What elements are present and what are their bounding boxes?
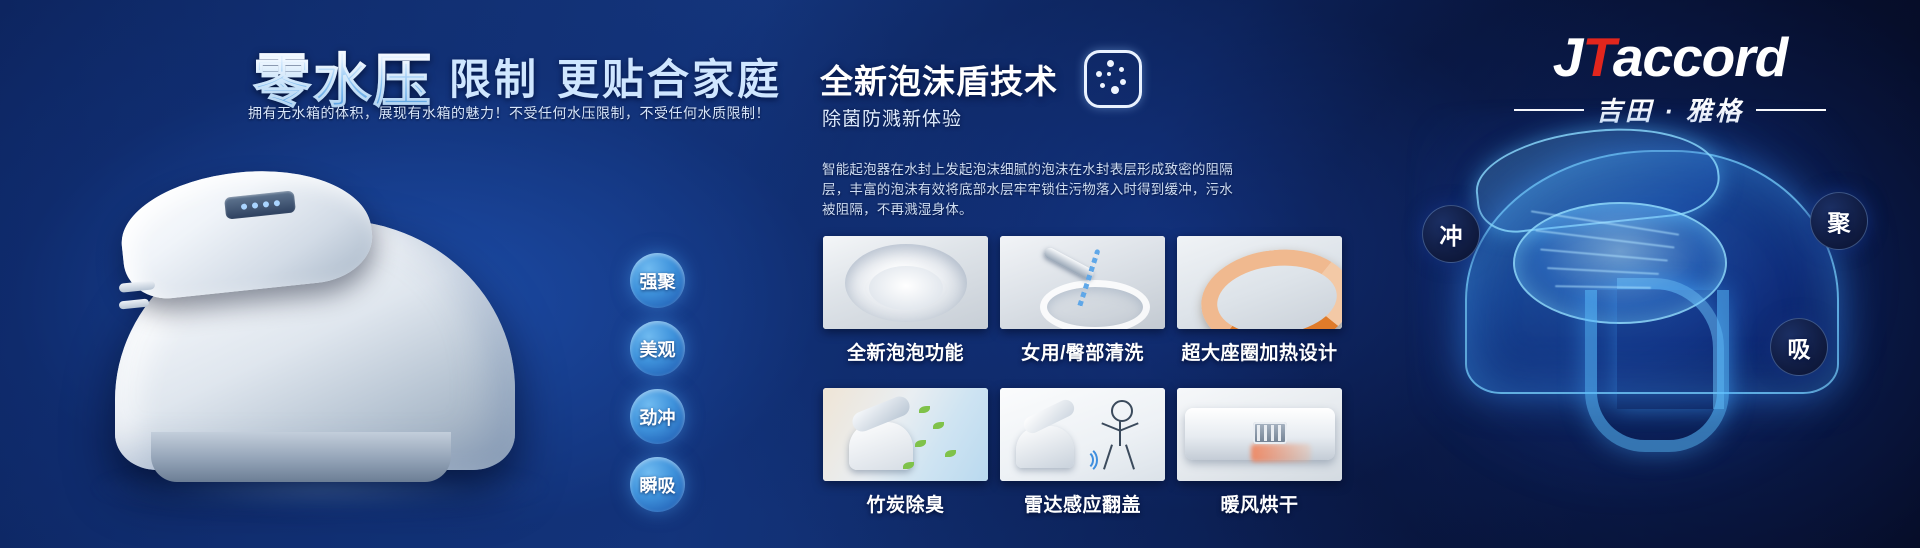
- feature-card-4[interactable]: 雷达感应翻盖: [1000, 388, 1165, 532]
- feature-pill-1[interactable]: 美观: [630, 321, 685, 376]
- feature-caption: 女用/臀部清洗: [1000, 338, 1165, 365]
- badge-suction[interactable]: 吸: [1770, 318, 1828, 376]
- feature-card-1[interactable]: 女用/臀部清洗: [1000, 236, 1165, 380]
- feature-caption: 全新泡泡功能: [823, 338, 988, 365]
- badge-flush[interactable]: 冲: [1422, 205, 1480, 263]
- feature-pill-list: 强聚 美观 劲冲 瞬吸: [630, 253, 685, 525]
- foam-bubbles-icon: [1084, 50, 1142, 108]
- middle-heading-row: 全新泡沫盾技术: [820, 50, 1142, 108]
- feature-thumbnail-radar: [1000, 388, 1165, 481]
- feature-grid-row-2: 竹炭除臭 雷达感应翻盖: [823, 388, 1343, 532]
- toilet-base: [151, 432, 451, 482]
- headline-sub-text: 限制更贴合家庭: [449, 46, 782, 107]
- feature-thumbnail-bowl: [823, 236, 988, 329]
- middle-title: 全新泡沫盾技术: [820, 55, 1058, 103]
- badge-label: 冲: [1440, 217, 1463, 251]
- feature-card-3[interactable]: 竹炭除臭: [823, 388, 988, 532]
- logo-letter-j: J: [1553, 26, 1583, 88]
- feature-thumbnail-bamboo: [823, 388, 988, 481]
- headline-subline: 拥有无水箱的体积，展现有水箱的魅力！不受任何水压限制，不受任何水质限制！: [248, 103, 770, 123]
- toilet-product-image: [105, 160, 565, 505]
- feature-thumbnail-wash: [1000, 236, 1165, 329]
- middle-body-text: 智能起泡器在水封上发起泡沫细腻的泡沫在水封表层形成致密的阻隔层，丰富的泡沫有效将…: [822, 160, 1242, 220]
- brand-logo-latin: JTaccord: [1470, 30, 1870, 85]
- headline-sub-a: 限制: [449, 56, 539, 103]
- feature-caption: 竹炭除臭: [823, 490, 988, 517]
- headline-sub-b: 更贴合家庭: [557, 56, 782, 103]
- feature-pill-label: 劲冲: [640, 404, 676, 430]
- logo-word-accord: accord: [1613, 26, 1787, 88]
- xray-trapway-lower: [1585, 290, 1729, 452]
- feature-card-2[interactable]: 超大座圈加热设计: [1177, 236, 1342, 380]
- left-section: 零水压限制更贴合家庭 拥有无水箱的体积，展现有水箱的魅力！不受任何水压限制，不受…: [0, 0, 760, 548]
- feature-thumbnail-seat: [1177, 236, 1342, 329]
- right-section: JTaccord 吉田 · 雅格 冲 聚 吸: [1380, 0, 1920, 548]
- feature-pill-label: 瞬吸: [640, 472, 676, 498]
- feature-caption: 雷达感应翻盖: [1000, 490, 1165, 517]
- logo-letter-t: T: [1582, 26, 1613, 88]
- feature-caption: 超大座圈加热设计: [1177, 338, 1342, 365]
- feature-caption: 暖风烘干: [1177, 490, 1342, 517]
- feature-grid: 全新泡泡功能 女用/臀部清洗 超大座圈加热设计: [823, 236, 1343, 540]
- badge-gather[interactable]: 聚: [1810, 192, 1868, 250]
- feature-thumbnail-dryer: [1177, 388, 1342, 481]
- middle-subtitle: 除菌防溅新体验: [822, 104, 962, 131]
- feature-card-0[interactable]: 全新泡泡功能: [823, 236, 988, 380]
- feature-pill-label: 美观: [640, 336, 676, 362]
- xray-cutaway-image: [1435, 110, 1875, 510]
- middle-section: 全新泡沫盾技术 除菌防溅新体验 智能起泡器在水封上发起泡沫细腻的泡沫在水封表层形…: [820, 0, 1380, 548]
- feature-pill-2[interactable]: 劲冲: [630, 389, 685, 444]
- feature-card-5[interactable]: 暖风烘干: [1177, 388, 1342, 532]
- badge-label: 吸: [1788, 330, 1811, 364]
- feature-pill-3[interactable]: 瞬吸: [630, 457, 685, 512]
- feature-grid-row-1: 全新泡泡功能 女用/臀部清洗 超大座圈加热设计: [823, 236, 1343, 380]
- promo-banner: 零水压限制更贴合家庭 拥有无水箱的体积，展现有水箱的魅力！不受任何水压限制，不受…: [0, 0, 1920, 548]
- badge-label: 聚: [1828, 204, 1851, 238]
- feature-pill-0[interactable]: 强聚: [630, 253, 685, 308]
- feature-pill-label: 强聚: [640, 268, 676, 294]
